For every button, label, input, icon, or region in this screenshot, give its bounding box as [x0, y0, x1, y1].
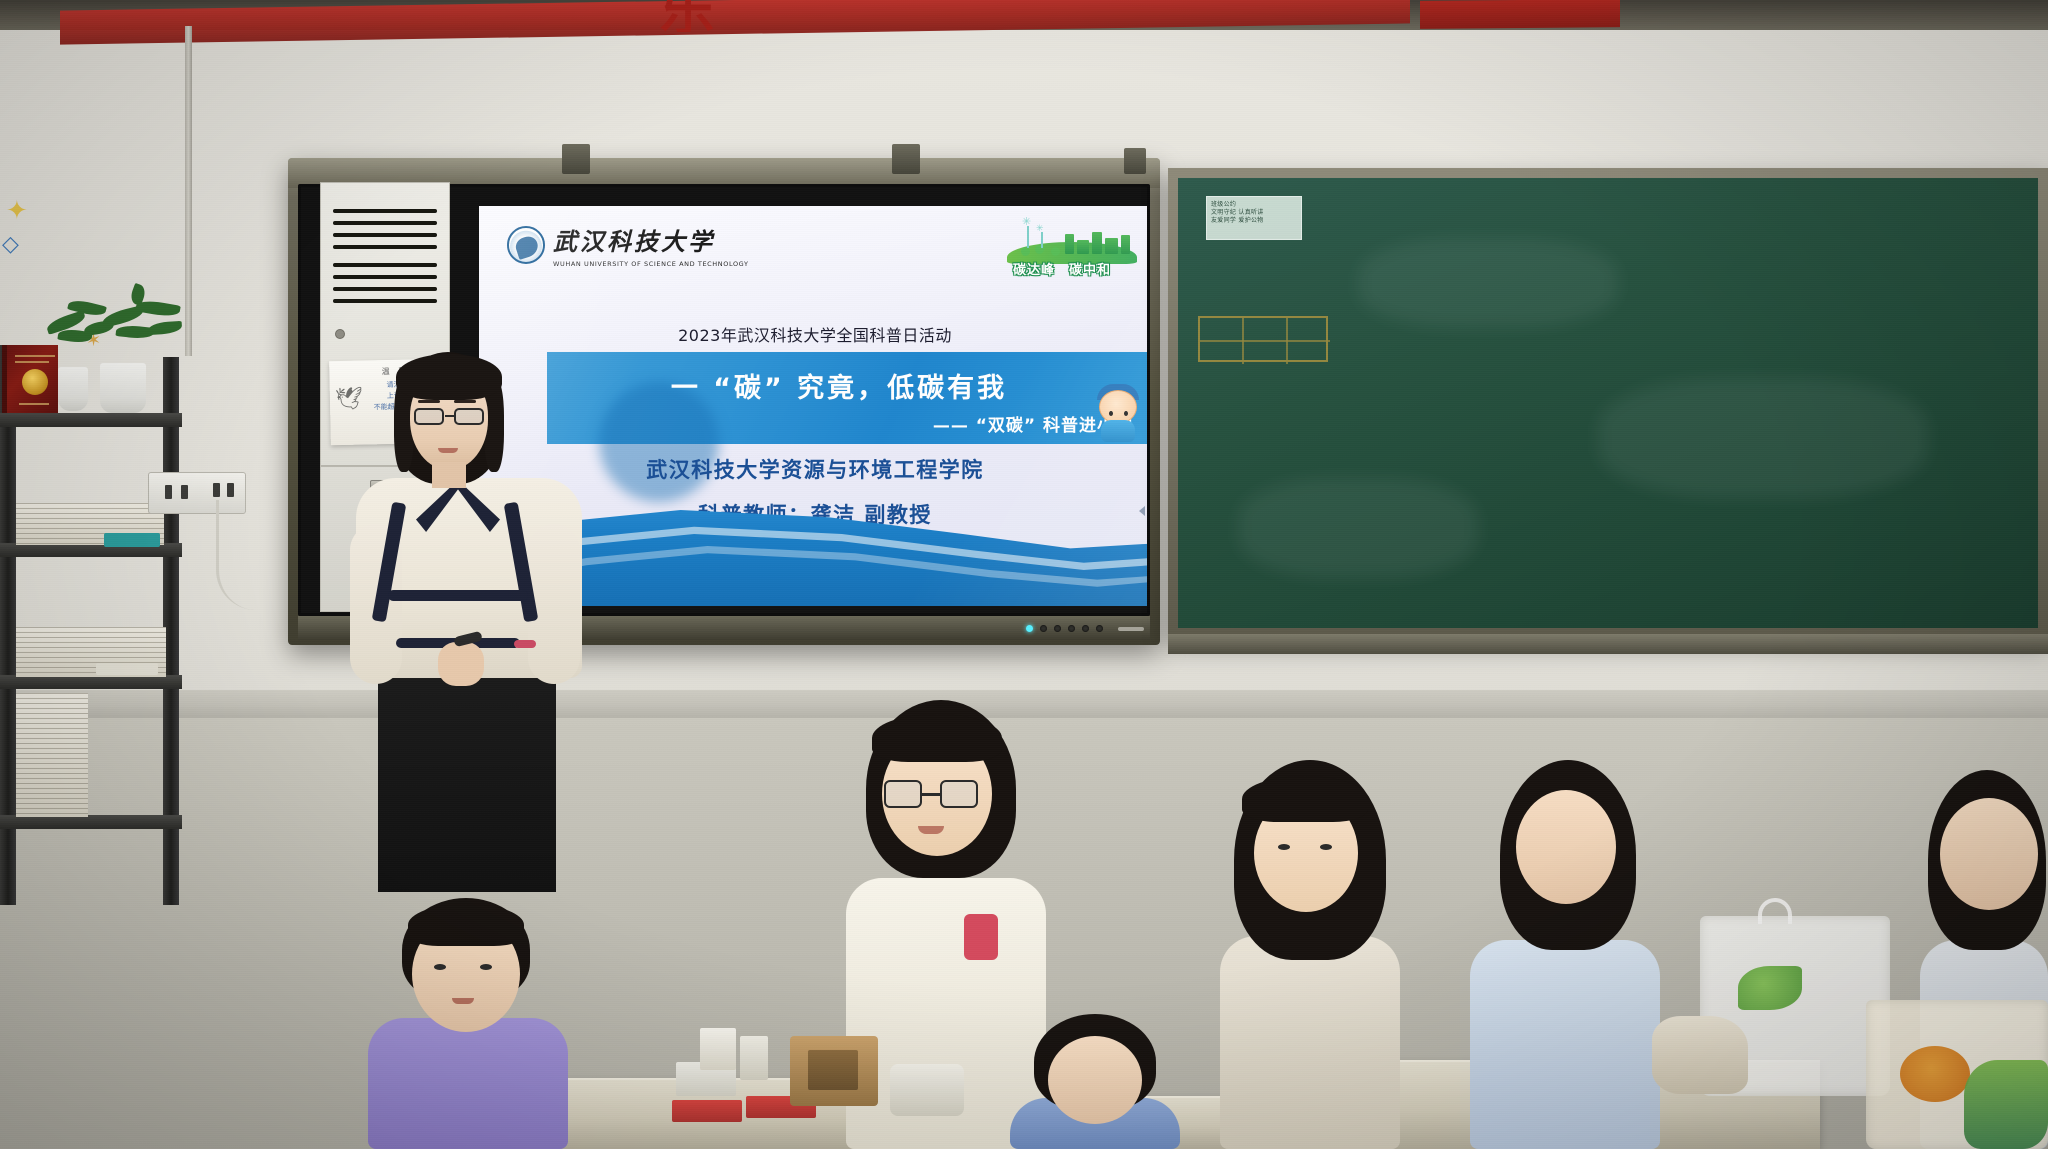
student-5-body: [1470, 940, 1660, 1149]
mount-bracket-right: [892, 144, 920, 174]
student-3-head: [1048, 1036, 1142, 1124]
student-6-head: [1940, 798, 2038, 910]
teal-folder: [104, 533, 160, 547]
bag-leaf-contents: [1738, 966, 1802, 1010]
bag-orange-contents: [1900, 1046, 1970, 1102]
banner-char: 乐: [660, 0, 980, 32]
shelf-board-4: [0, 815, 182, 829]
university-emblem-icon: [507, 226, 545, 264]
slide-title-band: 一 “碳” 究竟，低碳有我 —— “双碳” 科普进小学: [547, 352, 1147, 444]
plant-pot-2: [100, 363, 146, 413]
certificate: [2, 345, 58, 413]
indicator-led-1: [1040, 625, 1047, 632]
mount-bracket-left: [562, 144, 590, 174]
indicator-led-3: [1068, 625, 1075, 632]
chalk-note-line-3: 友爱同学 爱护公物: [1211, 217, 1297, 225]
student-1-body: [368, 1018, 568, 1149]
desk-item-card: [740, 1036, 768, 1080]
student-2-scarf: [964, 914, 998, 960]
university-name-cn: 武汉科技大学: [553, 222, 749, 257]
plastic-bag-1-handle: [1758, 898, 1792, 924]
indicator-led-5: [1096, 625, 1103, 632]
university-name-en: WUHAN UNIVERSITY OF SCIENCE AND TECHNOLO…: [553, 260, 749, 268]
presenter-glasses-icon: [414, 408, 486, 426]
desk-item-box: [700, 1028, 736, 1070]
star-sticker: ✦: [6, 196, 28, 226]
chalkboard-grid: [1198, 316, 1328, 362]
power-led: [1026, 625, 1033, 632]
desk-item-red-pack: [672, 1100, 742, 1122]
bookshelf: [0, 345, 190, 905]
plant-pot-1: [58, 367, 88, 411]
student-5-head: [1516, 790, 1616, 904]
kite-sticker: ◇: [2, 232, 19, 257]
mascot-icon: [1093, 384, 1145, 444]
student-4: [1220, 760, 1400, 1149]
carbon-neutral-label: 碳中和: [1069, 259, 1111, 278]
chalk-note-line-2: 文明守纪 认真听讲: [1211, 209, 1297, 217]
carbon-peak-label: 碳达峰: [1013, 259, 1055, 278]
slide-kicker: 2023年武汉科技大学全国科普日活动: [479, 322, 1147, 346]
indicator-led-4: [1082, 625, 1089, 632]
mount-bracket-far-right: [1124, 148, 1146, 174]
presenter-bracelet: [514, 640, 536, 648]
desk-item-white-object: [890, 1064, 964, 1116]
presenter-arm-right: [528, 524, 580, 684]
green-toy: [1964, 1060, 2048, 1149]
student-4-body: [1220, 936, 1400, 1149]
classroom-photo: 乐 ✦ ◇ ✶: [0, 0, 2048, 1149]
paper-stack-3: [16, 693, 88, 817]
student-2-glasses-icon: [884, 780, 980, 810]
carbon-goal-badge: ✳ ✳ 碳达峰 碳中和: [1007, 218, 1137, 276]
stylus-pen[interactable]: [1118, 627, 1144, 631]
presenter-person: [342, 352, 594, 892]
certificate-medal: [22, 369, 48, 395]
presenter-skirt: [378, 670, 556, 892]
desk-item-wood-box-inner: [808, 1050, 858, 1090]
shelf-board-3: [0, 675, 182, 689]
cloth-bag: [1652, 1016, 1748, 1094]
university-logo: 武汉科技大学 WUHAN UNIVERSITY OF SCIENCE AND T…: [507, 222, 749, 268]
indicator-led-2: [1054, 625, 1061, 632]
slide-next-arrow-icon[interactable]: [1139, 506, 1145, 516]
chalk-tray: [1168, 634, 2048, 654]
student-3: [1010, 1014, 1180, 1149]
shelf-board-1: [0, 413, 182, 427]
slide-title-main: 一 “碳” 究竟，低碳有我: [547, 366, 1131, 405]
presenter-hands: [438, 642, 484, 686]
student-5: [1470, 760, 1660, 1149]
chalkboard-notice: 班级公约 文明守纪 认真听讲 友爱同学 爱护公物: [1206, 196, 1302, 240]
white-folder: [96, 663, 158, 675]
ceiling-red-banner-right: [1420, 0, 1620, 29]
plant-foliage-2: [96, 280, 216, 352]
status-led-row: [1026, 625, 1103, 632]
chalk-note-line-1: 班级公约: [1211, 201, 1297, 209]
green-chalkboard: 班级公约 文明守纪 认真听讲 友爱同学 爱护公物: [1168, 168, 2048, 638]
student-1: [368, 898, 568, 1149]
